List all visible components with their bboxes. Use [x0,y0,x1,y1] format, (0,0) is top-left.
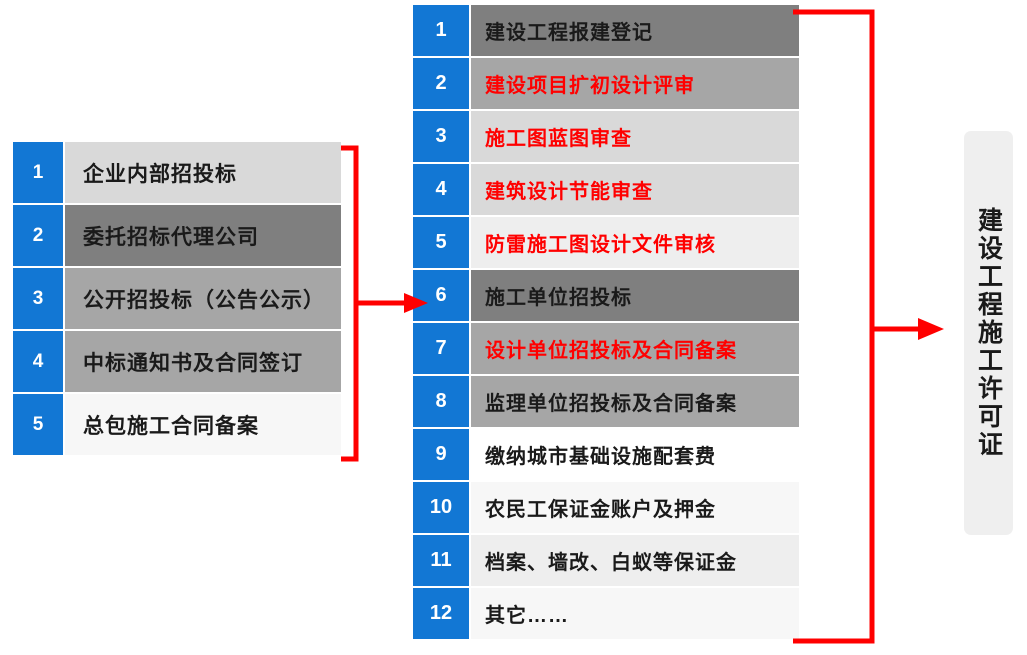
permit-item-row-number: 7 [412,322,470,375]
permit-item-row: 7设计单位招投标及合同备案 [412,322,800,375]
tender-process-row-number: 4 [12,330,64,393]
right-bracket-path [793,12,872,641]
tender-process-row: 5总包施工合同备案 [12,393,342,456]
permit-item-row-label: 建筑设计节能审查 [470,163,800,216]
permit-item-row: 10农民工保证金账户及押金 [412,481,800,534]
permit-item-row-number: 1 [412,4,470,57]
tender-process-row-label: 企业内部招投标 [64,141,342,204]
permit-item-row-label: 施工图蓝图审查 [470,110,800,163]
permit-item-row: 9缴纳城市基础设施配套费 [412,428,800,481]
permit-item-row-number: 3 [412,110,470,163]
tender-process-row-number: 3 [12,267,64,330]
permit-item-row-label: 建设项目扩初设计评审 [470,57,800,110]
tender-process-row-number: 2 [12,204,64,267]
permit-item-row-number: 12 [412,587,470,640]
tender-process-row-label: 公开招投标（公告公示） [64,267,342,330]
permit-item-row-number: 6 [412,269,470,322]
tender-process-row: 2委托招标代理公司 [12,204,342,267]
tender-process-row: 1企业内部招投标 [12,141,342,204]
tender-process-row-label: 中标通知书及合同签订 [64,330,342,393]
permit-item-row: 8监理单位招投标及合同备案 [412,375,800,428]
permit-item-row-label: 农民工保证金账户及押金 [470,481,800,534]
tender-process-row: 4中标通知书及合同签订 [12,330,342,393]
permit-item-row: 5防雷施工图设计文件审核 [412,216,800,269]
permit-item-row-number: 8 [412,375,470,428]
tender-process-list: 1企业内部招投标2委托招标代理公司3公开招投标（公告公示）4中标通知书及合同签订… [12,141,342,456]
right-arrow-head [918,318,944,340]
permit-item-row-label: 档案、墙改、白蚁等保证金 [470,534,800,587]
construction-permit-certificate-box: 建设工程施工许可证 [964,131,1013,535]
permit-item-row: 1建设工程报建登记 [412,4,800,57]
permit-item-row-label: 防雷施工图设计文件审核 [470,216,800,269]
permit-item-row: 3施工图蓝图审查 [412,110,800,163]
permit-item-row: 12其它…… [412,587,800,640]
permit-item-row-label: 缴纳城市基础设施配套费 [470,428,800,481]
permit-item-row-number: 4 [412,163,470,216]
permit-item-row-label: 设计单位招投标及合同备案 [470,322,800,375]
permit-item-row-label: 监理单位招投标及合同备案 [470,375,800,428]
permit-item-row-number: 11 [412,534,470,587]
permit-item-row-number: 5 [412,216,470,269]
permit-item-row: 2建设项目扩初设计评审 [412,57,800,110]
certificate-label: 建设工程施工许可证 [973,207,1005,459]
tender-process-row-label: 总包施工合同备案 [64,393,342,456]
permit-item-row: 11档案、墙改、白蚁等保证金 [412,534,800,587]
tender-process-row-number: 5 [12,393,64,456]
permit-item-row: 6施工单位招投标 [412,269,800,322]
permit-item-row-number: 2 [412,57,470,110]
permit-item-row-label: 建设工程报建登记 [470,4,800,57]
tender-process-row: 3公开招投标（公告公示） [12,267,342,330]
tender-process-row-label: 委托招标代理公司 [64,204,342,267]
left-bracket-path [341,148,356,459]
permit-item-row: 4建筑设计节能审查 [412,163,800,216]
construction-permit-items-list: 1建设工程报建登记2建设项目扩初设计评审3施工图蓝图审查4建筑设计节能审查5防雷… [412,4,800,640]
permit-item-row-label: 施工单位招投标 [470,269,800,322]
permit-item-row-number: 9 [412,428,470,481]
tender-process-row-number: 1 [12,141,64,204]
permit-item-row-label: 其它…… [470,587,800,640]
permit-item-row-number: 10 [412,481,470,534]
